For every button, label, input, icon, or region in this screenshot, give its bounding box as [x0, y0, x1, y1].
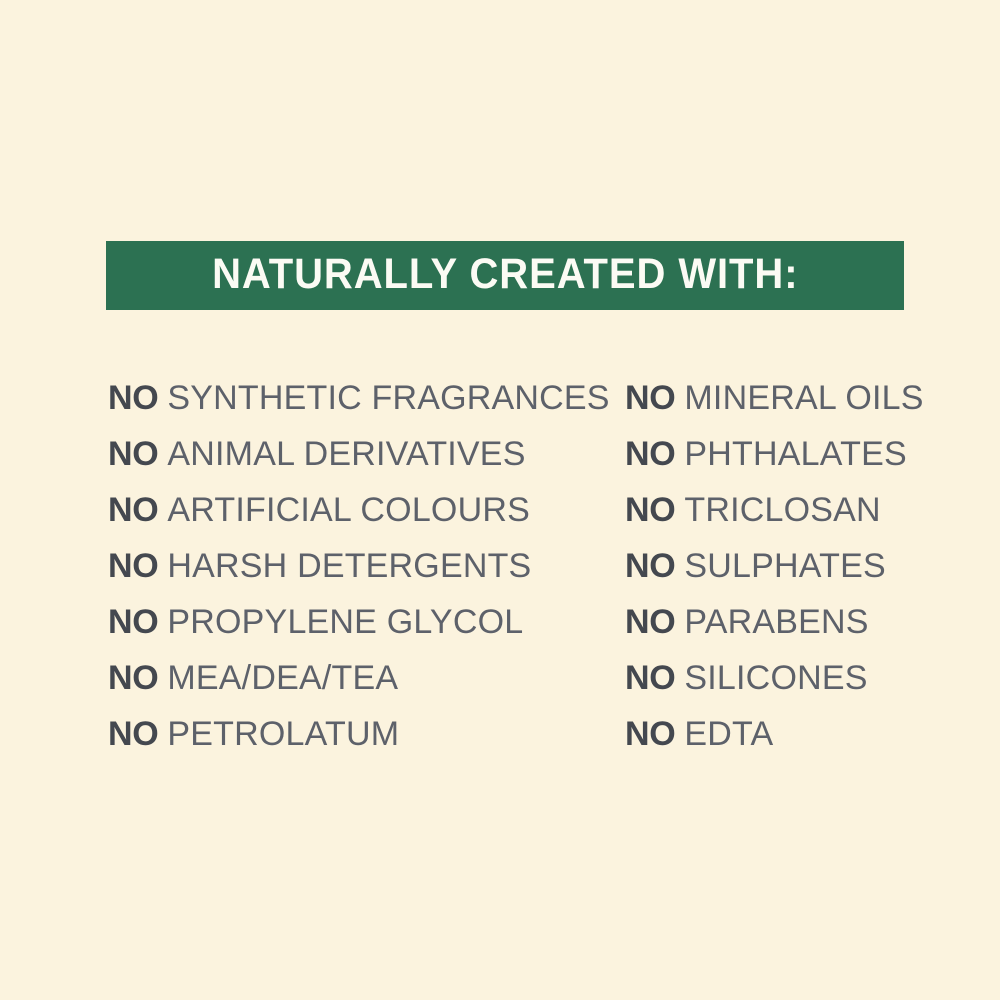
list-item: NOSILICONES [625, 650, 924, 706]
list-item: NOSYNTHETIC FRAGRANCES [108, 370, 610, 426]
no-prefix: NO [625, 715, 675, 753]
no-prefix: NO [108, 659, 158, 697]
list-item: NOEDTA [625, 706, 924, 762]
free-from-column-left: NOSYNTHETIC FRAGRANCES NOANIMAL DERIVATI… [108, 370, 610, 762]
banner-title: NATURALLY CREATED WITH: [212, 253, 798, 298]
no-prefix: NO [108, 603, 158, 641]
no-prefix: NO [625, 379, 675, 417]
list-item: NOSULPHATES [625, 538, 924, 594]
no-prefix: NO [108, 715, 158, 753]
list-item: NOMINERAL OILS [625, 370, 924, 426]
list-item-label: PARABENS [684, 603, 868, 641]
list-item: NOMEA/DEA/TEA [108, 650, 610, 706]
list-item-label: SILICONES [684, 659, 867, 697]
list-item: NOARTIFICIAL COLOURS [108, 482, 610, 538]
list-item-label: MEA/DEA/TEA [167, 659, 398, 697]
no-prefix: NO [625, 659, 675, 697]
no-prefix: NO [108, 547, 158, 585]
list-item-label: TRICLOSAN [684, 491, 880, 529]
list-item-label: HARSH DETERGENTS [167, 547, 531, 585]
banner: NATURALLY CREATED WITH: [106, 241, 904, 310]
list-item: NOPHTHALATES [625, 426, 924, 482]
list-item-label: SYNTHETIC FRAGRANCES [167, 379, 609, 417]
list-item-label: MINERAL OILS [684, 379, 923, 417]
list-item-label: ANIMAL DERIVATIVES [167, 435, 525, 473]
list-item: NOANIMAL DERIVATIVES [108, 426, 610, 482]
no-prefix: NO [108, 435, 158, 473]
free-from-column-right: NOMINERAL OILS NOPHTHALATES NOTRICLOSAN … [625, 370, 924, 762]
list-item-label: SULPHATES [684, 547, 885, 585]
list-item-label: ARTIFICIAL COLOURS [167, 491, 530, 529]
list-item: NOPROPYLENE GLYCOL [108, 594, 610, 650]
no-prefix: NO [108, 491, 158, 529]
list-item: NOTRICLOSAN [625, 482, 924, 538]
no-prefix: NO [625, 435, 675, 473]
no-prefix: NO [625, 491, 675, 529]
no-prefix: NO [625, 603, 675, 641]
no-prefix: NO [108, 379, 158, 417]
free-from-list: NOSYNTHETIC FRAGRANCES NOANIMAL DERIVATI… [0, 370, 1000, 770]
list-item-label: PHTHALATES [684, 435, 906, 473]
no-prefix: NO [625, 547, 675, 585]
ingredient-free-claims-poster: NATURALLY CREATED WITH: NOSYNTHETIC FRAG… [0, 0, 1000, 1000]
list-item: NOHARSH DETERGENTS [108, 538, 610, 594]
list-item: NOPARABENS [625, 594, 924, 650]
list-item-label: PETROLATUM [167, 715, 399, 753]
list-item-label: PROPYLENE GLYCOL [167, 603, 523, 641]
list-item: NOPETROLATUM [108, 706, 610, 762]
list-item-label: EDTA [684, 715, 773, 753]
